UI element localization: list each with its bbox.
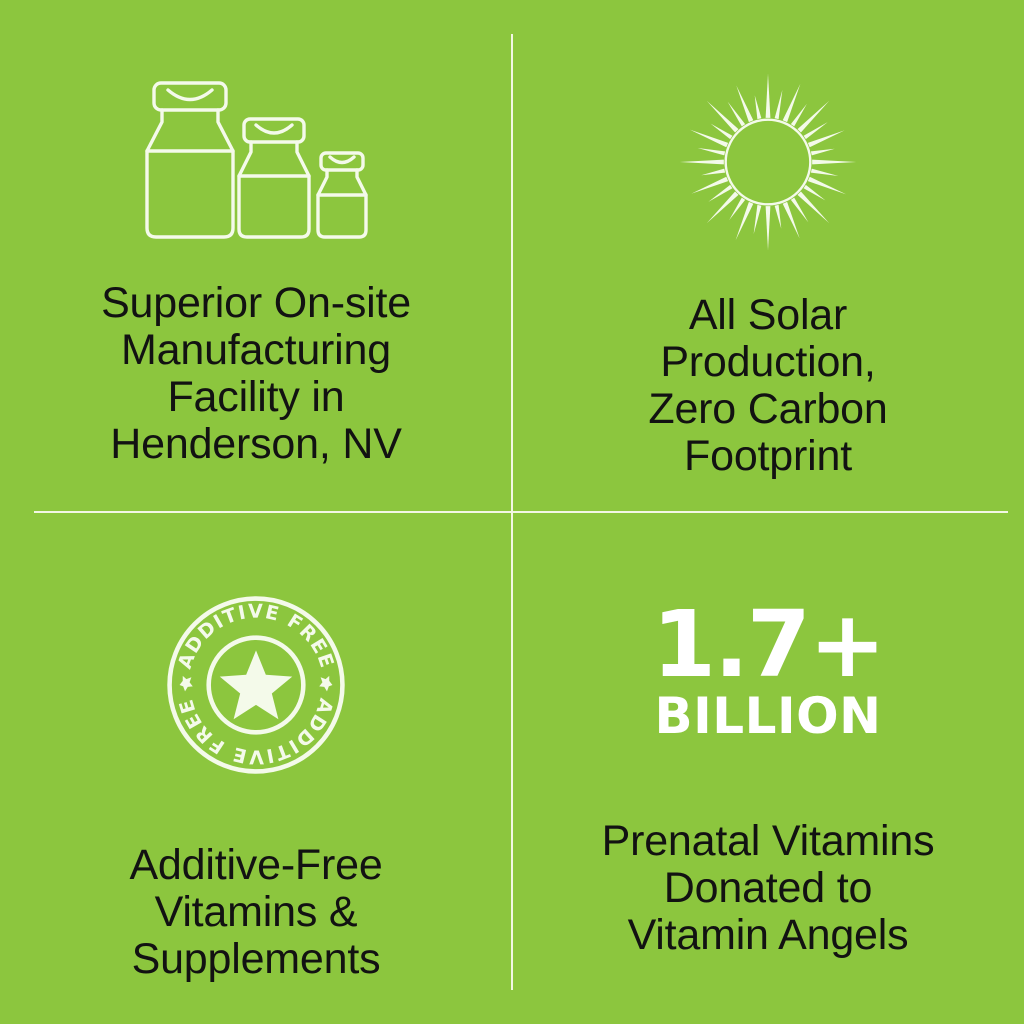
seal-star-left bbox=[180, 676, 193, 691]
panel-caption: Superior On-site Manufacturing Facility … bbox=[36, 280, 476, 468]
panel-additive-free: ADDITIVE FREE ADDITIVE FREE Additive-Fre… bbox=[0, 512, 512, 1024]
panel-caption: All Solar Production, Zero Carbon Footpr… bbox=[548, 292, 988, 480]
seal-center-star bbox=[220, 650, 292, 719]
panel-caption: Prenatal Vitamins Donated to Vitamin Ang… bbox=[548, 818, 988, 959]
stat-number: 1.7+ bbox=[652, 602, 884, 688]
panel-solar: All Solar Production, Zero Carbon Footpr… bbox=[512, 0, 1024, 512]
panel-caption: Additive-Free Vitamins & Supplements bbox=[36, 842, 476, 983]
sun-icon bbox=[676, 70, 860, 254]
donation-stat: 1.7+ BILLION bbox=[652, 602, 884, 742]
stat-unit: BILLION bbox=[655, 690, 882, 742]
panel-manufacturing: Superior On-site Manufacturing Facility … bbox=[0, 0, 512, 512]
additive-free-seal-icon: ADDITIVE FREE ADDITIVE FREE bbox=[165, 594, 347, 776]
seal-star-right bbox=[319, 676, 332, 691]
quadrant-grid: Superior On-site Manufacturing Facility … bbox=[0, 0, 1024, 1024]
benefits-infographic: Superior On-site Manufacturing Facility … bbox=[0, 0, 1024, 1024]
supplement-bottles-icon bbox=[140, 78, 372, 248]
panel-donations: 1.7+ BILLION Prenatal Vitamins Donated t… bbox=[512, 512, 1024, 1024]
